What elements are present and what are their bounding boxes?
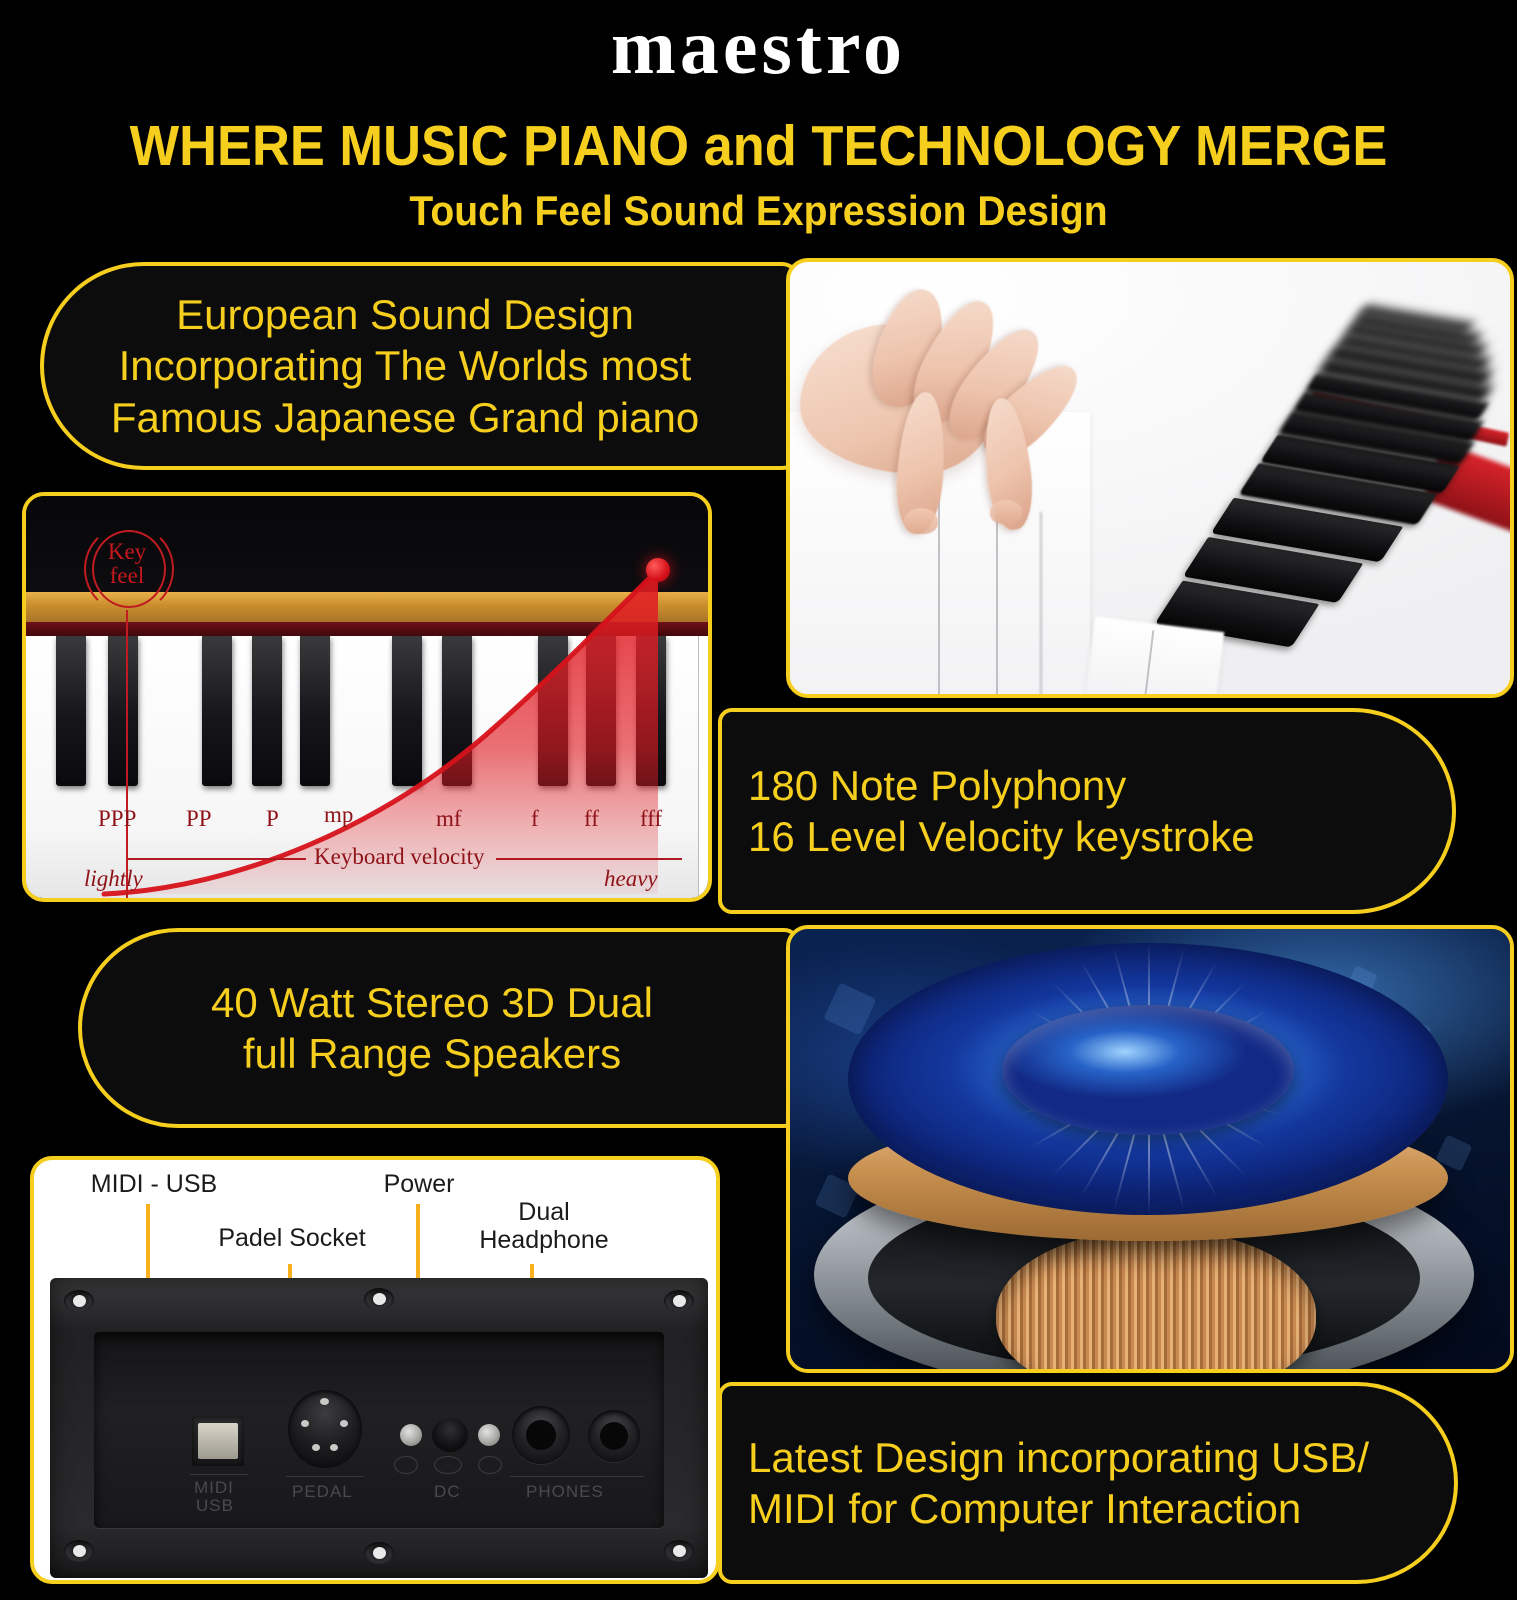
- panel-label-power: Power: [354, 1170, 484, 1198]
- panel-label-dual-headphone: Dual Headphone: [454, 1198, 634, 1254]
- dynamic-mf: mf: [436, 806, 462, 832]
- jack-panel-plate: MIDI USB PEDAL DC PHONES: [50, 1278, 708, 1578]
- dynamic-p: P: [266, 806, 279, 832]
- silk-phones: PHONES: [526, 1482, 604, 1502]
- photo-speaker-exploded: [786, 925, 1514, 1373]
- dynamic-ff: ff: [584, 806, 599, 832]
- subheadline: Touch Feel Sound Expression Design: [53, 190, 1464, 232]
- dynamic-ppp: PPP: [98, 806, 136, 832]
- photo-key-feel-velocity: Key feel PPP PP P mp mf f ff fff Keyboar…: [22, 492, 712, 902]
- callout-line: 16 Level Velocity keystroke: [748, 811, 1436, 862]
- headphone-jack-1: [512, 1406, 570, 1464]
- callout-speakers: 40 Watt Stereo 3D Dual full Range Speake…: [78, 928, 800, 1128]
- callout-european-sound-design: European Sound Design Incorporating The …: [40, 262, 800, 470]
- photo-hand-on-keys: [786, 258, 1514, 698]
- headphone-jack-2: [588, 1410, 640, 1462]
- callout-line: 180 Note Polyphony: [748, 760, 1436, 811]
- callout-line: Incorporating The Worlds most: [60, 340, 750, 391]
- pedal-din-socket: [288, 1390, 362, 1468]
- callout-line: Famous Japanese Grand piano: [60, 392, 750, 443]
- panel-label-midi-usb: MIDI - USB: [64, 1170, 244, 1198]
- dynamic-mp: mp: [324, 802, 353, 828]
- callout-line: MIDI for Computer Interaction: [748, 1483, 1438, 1534]
- callout-polyphony: 180 Note Polyphony 16 Level Velocity key…: [718, 708, 1456, 914]
- callout-line: 40 Watt Stereo 3D Dual: [98, 977, 766, 1028]
- axis-label-lightly: lightly: [84, 866, 143, 892]
- panel-label-dual: Dual: [454, 1198, 634, 1226]
- key-feel-line1: Key: [84, 540, 170, 564]
- silk-midi: MIDI: [194, 1478, 234, 1498]
- keyboard-velocity-label: Keyboard velocity: [314, 844, 485, 870]
- dynamic-fff: fff: [640, 806, 662, 832]
- dynamic-f: f: [531, 806, 539, 832]
- axis-label-heavy: heavy: [604, 866, 658, 892]
- callout-line: European Sound Design: [60, 289, 750, 340]
- usb-port: [192, 1416, 244, 1466]
- infographic-root: maestro WHERE MUSIC PIANO and TECHNOLOGY…: [0, 0, 1517, 1600]
- silk-usb: USB: [196, 1496, 234, 1516]
- panel-label-padel-socket: Padel Socket: [182, 1224, 402, 1252]
- silk-pedal: PEDAL: [292, 1482, 353, 1502]
- callout-line: Latest Design incorporating USB/: [748, 1432, 1438, 1483]
- callout-line: full Range Speakers: [98, 1028, 766, 1079]
- key-feel-line2: feel: [84, 564, 170, 588]
- dc-power-jack: [432, 1418, 468, 1452]
- panel-label-headphone: Headphone: [454, 1226, 634, 1254]
- callout-latest-design: Latest Design incorporating USB/ MIDI fo…: [718, 1382, 1458, 1584]
- silk-dc: DC: [434, 1482, 461, 1502]
- dynamic-pp: PP: [186, 806, 212, 832]
- photo-rear-connector-panel: MIDI - USB Padel Socket Power Dual Headp…: [30, 1156, 720, 1584]
- brand-logo: maestro: [0, 8, 1517, 86]
- key-feel-badge: Key feel: [84, 524, 170, 610]
- headline: WHERE MUSIC PIANO and TECHNOLOGY MERGE: [61, 118, 1457, 175]
